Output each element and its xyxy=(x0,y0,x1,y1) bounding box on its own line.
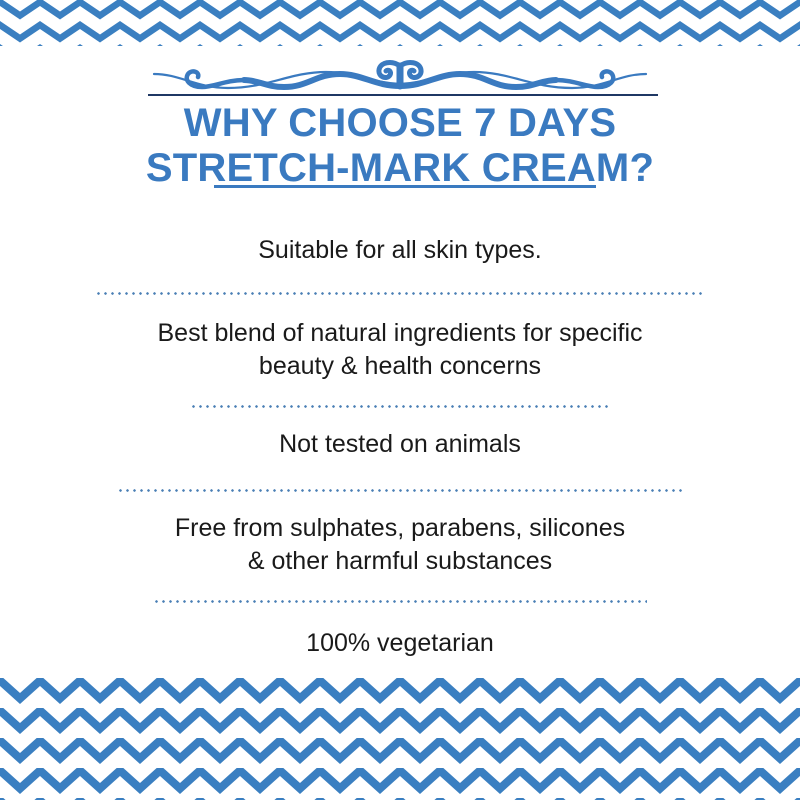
benefit-text-5: 100% vegetarian xyxy=(0,627,800,660)
benefits-list: Suitable for all skin types. Best blend … xyxy=(0,222,800,660)
title-top-rule xyxy=(148,94,658,96)
benefit-text-2: Best blend of natural ingredients for sp… xyxy=(0,317,800,383)
list-item: Not tested on animals xyxy=(0,408,800,492)
list-item: Free from sulphates, parabens, silicones… xyxy=(0,492,800,603)
poster-canvas: WHY CHOOSE 7 DAYS STRETCH-MARK CREAM? Su… xyxy=(0,0,800,800)
flourish-ornament xyxy=(0,52,800,98)
list-item: 100% vegetarian xyxy=(0,603,800,660)
list-item: Suitable for all skin types. xyxy=(0,222,800,295)
list-item: Best blend of natural ingredients for sp… xyxy=(0,295,800,408)
title-line-1: WHY CHOOSE 7 DAYS xyxy=(0,101,800,146)
chevron-pattern-bottom xyxy=(0,678,800,800)
page-title: WHY CHOOSE 7 DAYS STRETCH-MARK CREAM? xyxy=(0,101,800,191)
benefit-text-3: Not tested on animals xyxy=(0,428,800,461)
benefit-text-1: Suitable for all skin types. xyxy=(0,234,800,267)
chevron-pattern-top xyxy=(0,0,800,46)
title-underline xyxy=(214,185,596,188)
benefit-text-4: Free from sulphates, parabens, silicones… xyxy=(0,512,800,578)
